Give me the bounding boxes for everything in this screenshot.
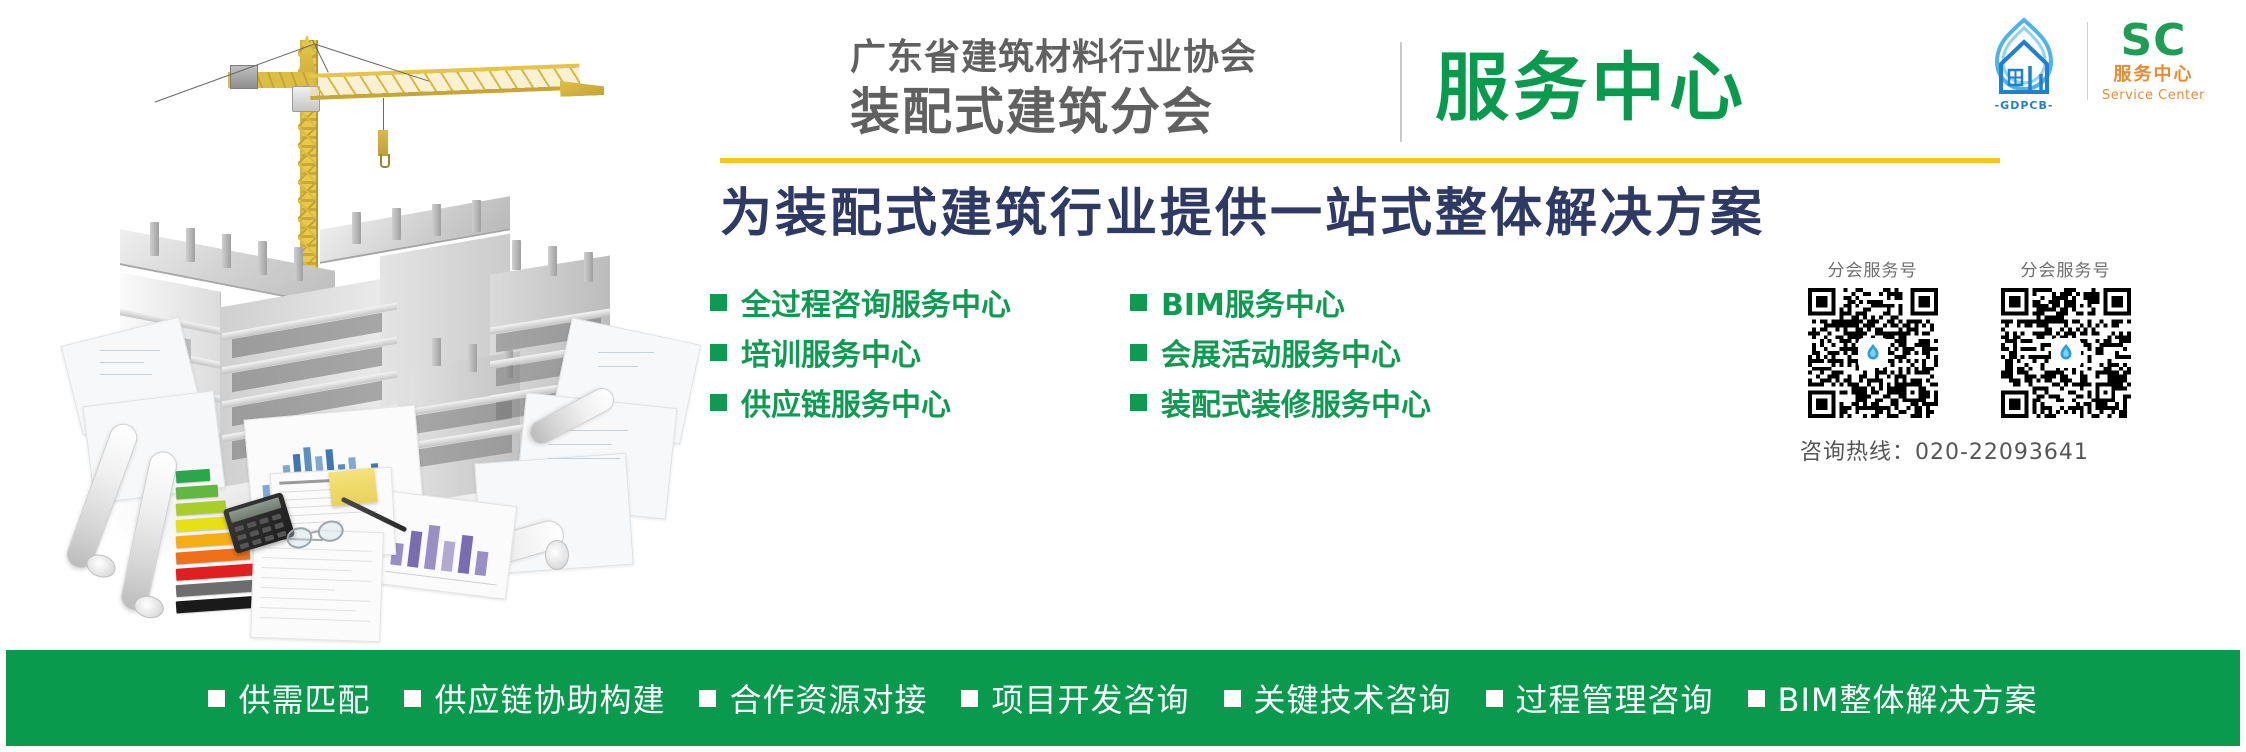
square-bullet-icon: [1130, 344, 1147, 361]
bottom-bar-item-4[interactable]: 关键技术咨询: [1224, 675, 1452, 721]
qr-label: 分会服务号: [1790, 258, 1955, 284]
sc-abbreviation: SC: [2102, 19, 2205, 63]
bottom-bar-item-label: 合作资源对接: [729, 675, 927, 721]
association-name-line2: 装配式建筑分会: [850, 83, 1257, 141]
qr-image-0[interactable]: [1808, 288, 1938, 418]
bottom-bar-item-label: 关键技术咨询: [1254, 675, 1452, 721]
qr-center-logo-icon: [2051, 338, 2081, 368]
service-item-4[interactable]: 供应链服务中心: [710, 380, 1130, 424]
organization-logo[interactable]: -GDPCB- SC 服务中心 Service Center: [1975, 12, 2205, 110]
hotline-text: 咨询热线：020-22093641: [1790, 434, 2230, 466]
bottom-bar-item-label: 供应链协助构建: [434, 675, 665, 721]
qr-code-block: 分会服务号 分会服务号: [1790, 258, 2230, 466]
banner-content: 广东省建筑材料行业协会 装配式建筑分会 服务中心 为装配式建筑行业提供一站式整体…: [700, 0, 2246, 640]
square-bullet-icon: [1130, 294, 1147, 311]
bottom-bar-item-5[interactable]: 过程管理咨询: [1486, 675, 1714, 721]
square-bullet-icon: [1224, 690, 1241, 707]
service-item-5[interactable]: 装配式装修服务中心: [1130, 380, 1550, 424]
sc-chinese-label: 服务中心: [2102, 63, 2205, 87]
association-title-block: 广东省建筑材料行业协会 装配式建筑分会: [850, 36, 1257, 141]
service-item-0[interactable]: 全过程咨询服务中心: [710, 280, 1130, 324]
bottom-bar-item-label: 过程管理咨询: [1516, 675, 1714, 721]
service-item-label: 会展活动服务中心: [1161, 330, 1401, 374]
service-item-label: BIM服务中心: [1161, 280, 1345, 324]
square-bullet-icon: [208, 690, 225, 707]
square-bullet-icon: [710, 394, 727, 411]
gdpcb-house-flame-icon: -GDPCB-: [1975, 12, 2073, 110]
bottom-bar-item-label: 项目开发咨询: [991, 675, 1189, 721]
service-item-2[interactable]: 培训服务中心: [710, 330, 1130, 374]
service-item-label: 装配式装修服务中心: [1161, 380, 1431, 424]
bottom-services-bar: 供需匹配 供应链协助构建 合作资源对接 项目开发咨询 关键技术咨询 过程管理咨询…: [6, 650, 2240, 746]
construction-illustration: [0, 0, 700, 640]
sc-english-label: Service Center: [2102, 87, 2205, 104]
qr-center-logo-icon: [1858, 338, 1888, 368]
bottom-bar-item-1[interactable]: 供应链协助构建: [404, 675, 665, 721]
bottom-bar-item-0[interactable]: 供需匹配: [208, 675, 370, 721]
square-bullet-icon: [1748, 690, 1765, 707]
promotional-banner: 广东省建筑材料行业协会 装配式建筑分会 服务中心 为装配式建筑行业提供一站式整体…: [0, 0, 2246, 752]
qr-code-1[interactable]: 分会服务号: [1983, 258, 2148, 418]
square-bullet-icon: [961, 690, 978, 707]
square-bullet-icon: [404, 690, 421, 707]
service-item-label: 供应链服务中心: [741, 380, 951, 424]
qr-code-0[interactable]: 分会服务号: [1790, 258, 1955, 418]
square-bullet-icon: [710, 344, 727, 361]
association-name-line1: 广东省建筑材料行业协会: [850, 36, 1257, 80]
service-item-label: 全过程咨询服务中心: [741, 280, 1011, 324]
main-slogan: 为装配式建筑行业提供一站式整体解决方案: [720, 182, 2020, 246]
logo-divider: [2087, 22, 2088, 100]
title-vertical-divider: [1400, 42, 1402, 142]
square-bullet-icon: [1486, 690, 1503, 707]
bottom-bar-item-3[interactable]: 项目开发咨询: [961, 675, 1189, 721]
square-bullet-icon: [1130, 394, 1147, 411]
yellow-divider-rule: [720, 158, 2000, 163]
square-bullet-icon: [710, 294, 727, 311]
bottom-bar-item-6[interactable]: BIM整体解决方案: [1748, 675, 2038, 721]
service-item-1[interactable]: BIM服务中心: [1130, 280, 1550, 324]
logo-wordmark: -GDPCB-: [1975, 99, 2073, 112]
qr-image-1[interactable]: [2001, 288, 2131, 418]
service-center-list: 全过程咨询服务中心 BIM服务中心 培训服务中心 会展活动服务中心 供应链服务中…: [710, 278, 1810, 426]
bar-chart-paper-purple: [375, 490, 517, 599]
qr-label: 分会服务号: [1983, 258, 2148, 284]
service-center-heading: 服务中心: [1435, 40, 1747, 136]
service-item-label: 培训服务中心: [741, 330, 921, 374]
service-item-3[interactable]: 会展活动服务中心: [1130, 330, 1550, 374]
sc-lockup: SC 服务中心 Service Center: [2102, 19, 2205, 104]
bottom-bar-item-label: 供需匹配: [238, 675, 370, 721]
bottom-bar-item-label: BIM整体解决方案: [1778, 675, 2038, 721]
bottom-bar-item-2[interactable]: 合作资源对接: [699, 675, 927, 721]
square-bullet-icon: [699, 690, 716, 707]
form-document: [250, 528, 384, 642]
